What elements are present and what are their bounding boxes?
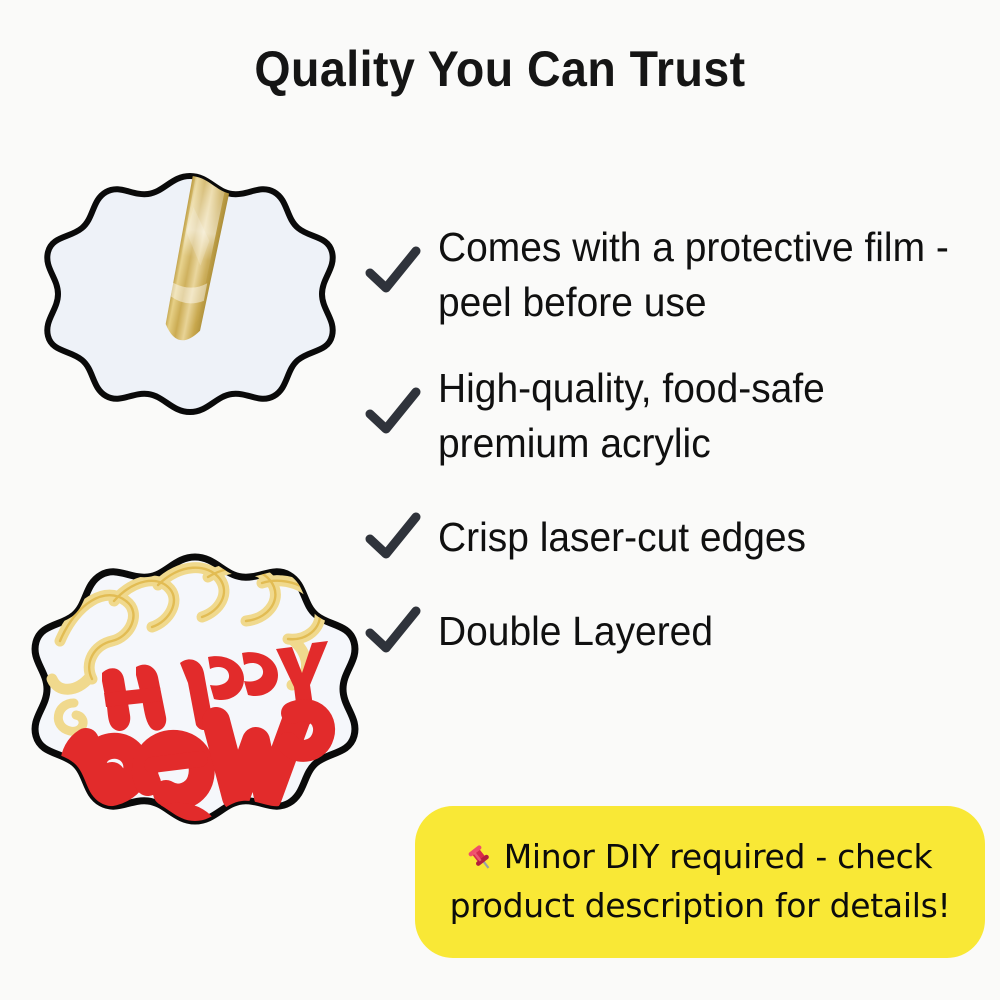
red-script-lettering bbox=[73, 641, 328, 858]
feature-list-item: High-quality, food-safe premium acrylic bbox=[362, 359, 992, 470]
feature-label: High-quality, food-safe premium acrylic bbox=[438, 359, 964, 470]
check-icon bbox=[362, 381, 424, 443]
product-feature-card: Quality You Can Trust bbox=[0, 0, 1000, 1000]
check-icon bbox=[362, 240, 424, 302]
feature-list-item: Comes with a protective film - peel befo… bbox=[362, 218, 992, 329]
check-icon bbox=[362, 600, 424, 662]
page-title: Quality You Can Trust bbox=[35, 40, 965, 98]
product-photo-acrylic-disc-with-gold-stake bbox=[40, 168, 340, 468]
diy-note-badge: Minor DIY required - check product descr… bbox=[415, 806, 985, 958]
feature-list: Comes with a protective film - peel befo… bbox=[362, 218, 992, 672]
check-icon bbox=[362, 506, 424, 568]
diy-note-text: Minor DIY required - check product descr… bbox=[450, 837, 951, 925]
feature-label: Crisp laser-cut edges bbox=[438, 508, 806, 565]
pushpin-icon bbox=[468, 839, 498, 884]
feature-list-item: Double Layered bbox=[362, 602, 992, 662]
product-photo-happy-new-year-topper bbox=[30, 545, 360, 875]
feature-list-item: Crisp laser-cut edges bbox=[362, 508, 992, 568]
feature-label: Double Layered bbox=[438, 602, 713, 659]
diy-note-text-wrap: Minor DIY required - check product descr… bbox=[429, 835, 971, 928]
feature-label: Comes with a protective film - peel befo… bbox=[438, 218, 964, 329]
